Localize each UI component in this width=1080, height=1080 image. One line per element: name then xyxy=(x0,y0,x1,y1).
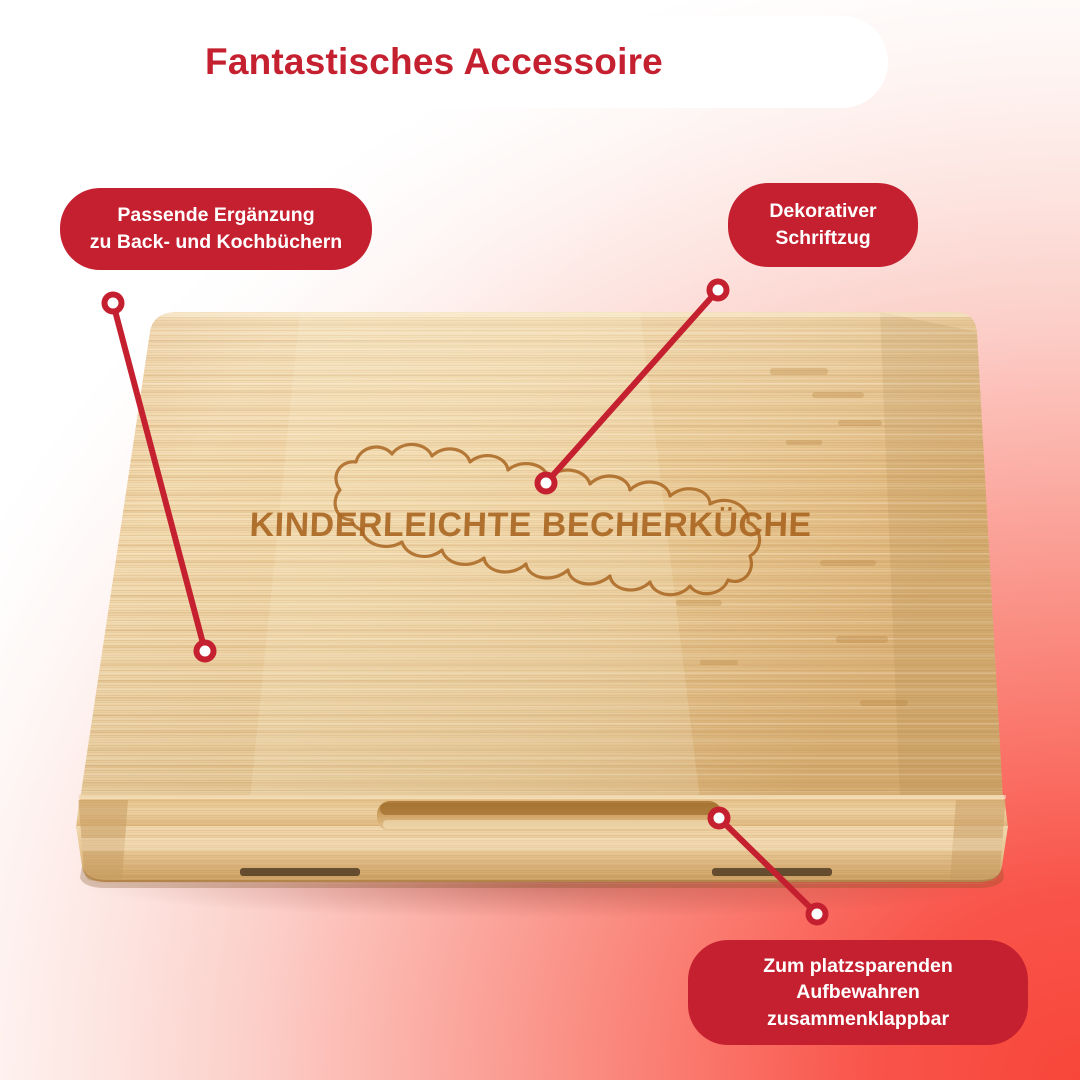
page-title: Fantastisches Accessoire xyxy=(165,41,663,83)
callout-bottom-line-3: zusammenklappbar xyxy=(767,1006,949,1033)
callout-bottom-line-1: Zum platzsparenden xyxy=(763,953,953,980)
callout-badge-left: Passende Ergänzung zu Back- und Kochbüch… xyxy=(60,188,372,270)
callout-bottom-line-2: Aufbewahren xyxy=(796,979,920,1006)
callout-right-line-2: Schriftzug xyxy=(775,225,870,252)
callout-badge-right: Dekorativer Schriftzug xyxy=(728,183,918,267)
header-banner: Fantastisches Accessoire xyxy=(0,16,888,108)
callout-left-line-2: zu Back- und Kochbüchern xyxy=(90,229,342,256)
callout-left-line-1: Passende Ergänzung xyxy=(117,202,314,229)
product-feature-image: KINDERLEICHTE BECHERKÜCHE xyxy=(0,0,1080,1080)
callout-right-line-1: Dekorativer xyxy=(769,198,876,225)
callout-badge-bottom: Zum platzsparenden Aufbewahren zusammenk… xyxy=(688,940,1028,1045)
